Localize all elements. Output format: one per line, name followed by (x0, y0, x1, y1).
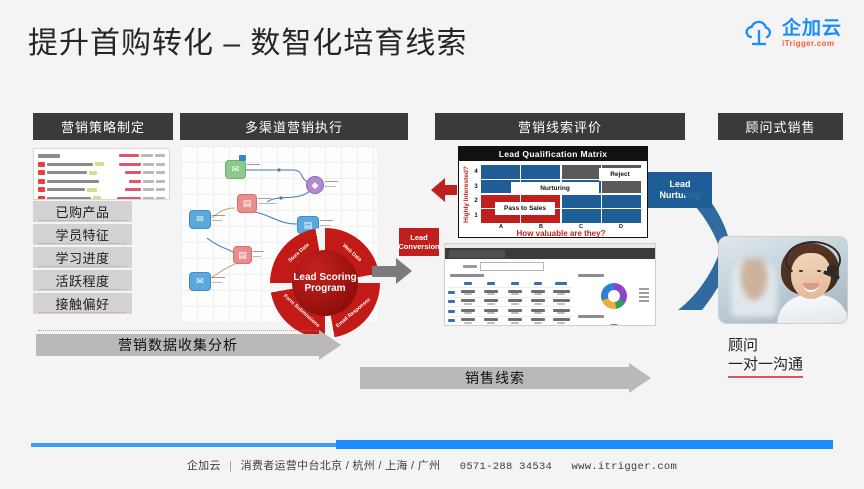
lead-conversion-badge: Lead Conversion (399, 228, 439, 256)
column-header-execution: 多渠道营销执行 (180, 113, 408, 140)
logo-name-cn: 企加云 (782, 19, 842, 38)
matrix-chip-pass-to-sales: Pass to Sales (495, 202, 555, 215)
band-label: 销售线索 (465, 368, 525, 388)
profile-tag-contact-preference[interactable]: 接触偏好 (33, 293, 132, 314)
profile-tag-student-traits[interactable]: 学员特征 (33, 224, 132, 245)
footer-phone: 0571-288 34534 (460, 461, 552, 473)
cloud-icon (742, 18, 776, 48)
dashboard-tab (449, 250, 505, 258)
matrix-title: Lead Qualification Matrix (459, 147, 647, 161)
adviser-line-1: 顾问 (728, 337, 803, 356)
profile-tag-activity-level[interactable]: 活跃程度 (33, 270, 132, 291)
band-data-collection: 营销数据收集分析 (36, 334, 342, 356)
flow-node-email-blue: ✉ (189, 210, 211, 229)
footer-divider: | (229, 460, 232, 472)
dashboard-filter-row (463, 262, 655, 271)
matrix-y-tick: 4 (474, 169, 477, 175)
flow-node-caption: ▁▁▁▁▁▁▁▁▁ (320, 217, 333, 227)
wheel-to-conversion-arrow (372, 258, 412, 284)
flow-node-caption: ▁▁▁▁▁▁▁▁▁▁▁▁ (258, 195, 276, 205)
lead-scoring-program-wheel: Store Data Web Data Email Responses Form… (270, 228, 380, 338)
lead-scoring-dashboard-thumbnail (444, 243, 656, 326)
slide-canvas: 提升首购转化 – 数智化培育线索 企加云 iTrigger.com 营销策略制定… (0, 0, 864, 489)
profile-tag-purchased-products[interactable]: 已购产品 (33, 201, 132, 222)
dashboard-navbar (445, 248, 655, 259)
brand-logo: 企加云 iTrigger.com (742, 18, 842, 48)
matrix-chip-reject: Reject (599, 168, 641, 181)
column-header-sales: 顾问式销售 (718, 113, 843, 140)
column-header-strategy: 营销策略制定 (33, 113, 173, 140)
flow-node-caption: ▁▁▁▁▁▁▁ (253, 248, 263, 258)
wheel-center-label: Lead Scoring Program (292, 272, 358, 295)
band-label: 营销数据收集分析 (118, 335, 238, 355)
footer-website[interactable]: www.itrigger.com (572, 461, 678, 473)
flow-node-decision-purple: ◆ (306, 176, 324, 194)
table-header-row (448, 279, 572, 288)
page-title: 提升首购转化 – 数智化培育线索 (28, 18, 467, 62)
call-center-agent-photo (718, 236, 848, 324)
flow-node-caption: ▁▁▁▁▁▁▁▁▁ (325, 178, 338, 188)
lead-qualification-matrix: Lead Qualification Matrix Highly Interes… (458, 146, 648, 238)
matrix-left-arrow (431, 178, 457, 202)
flow-node-caption: ▁▁▁▁▁▁▁▁▁ (212, 274, 225, 284)
profile-tag-learning-progress[interactable]: 学习进度 (33, 247, 132, 268)
footer-rule-light (31, 443, 336, 447)
logo-name-en: iTrigger.com (782, 40, 842, 48)
matrix-y-tick: 2 (474, 198, 477, 204)
matrix-cell-D1 (602, 209, 641, 223)
matrix-cell-D2 (602, 195, 641, 209)
adviser-caption: 顾问 一对一沟通 (728, 337, 803, 378)
matrix-cell-D3 (602, 180, 641, 194)
footer-rule-accent (336, 440, 833, 449)
flow-node-caption: ▁▁▁▁▁▁▁▁▁ (247, 161, 260, 171)
dashboard-donut-chart-2 (575, 321, 652, 326)
table-row (448, 298, 572, 307)
flow-node-condition-red: ▤ (237, 194, 257, 213)
matrix-x-axis-label: How valuable are they? (481, 229, 641, 238)
matrix-y-tick: 3 (474, 184, 477, 190)
matrix-cell-B4 (521, 165, 560, 179)
footer-text: 企加云 | 消费者运营中台北京 / 杭州 / 上海 / 广州 0571-288 … (0, 457, 864, 473)
matrix-cell-C2 (562, 195, 601, 209)
matrix-chip-nurturing: Nurturing (511, 182, 599, 195)
table-row (448, 288, 572, 297)
logo-wordmark: 企加云 iTrigger.com (782, 19, 842, 48)
flow-node-condition-red-2: ▤ (233, 246, 252, 264)
matrix-cell-C1 (562, 209, 601, 223)
matrix-y-ticks: 4 3 2 1 (472, 165, 480, 223)
flow-node-email-green: ✉ (225, 160, 246, 179)
table-row (448, 307, 572, 316)
adviser-line-2: 一对一沟通 (728, 356, 803, 378)
dashboard-donut-chart-1 (575, 280, 652, 312)
marketing-report-thumbnail (33, 148, 170, 200)
band-sales-leads: 销售线索 (360, 367, 652, 389)
column-header-scoring: 营销线索评价 (435, 113, 685, 140)
footer-brand: 企加云 (187, 460, 221, 472)
matrix-cell-C4 (562, 165, 601, 179)
flow-node-badge (239, 155, 246, 161)
table-row (448, 317, 572, 326)
matrix-y-tick: 1 (474, 213, 477, 219)
matrix-cell-A4 (481, 165, 520, 179)
flow-node-caption: ▁▁▁▁▁▁▁▁▁ (212, 212, 225, 222)
footer-org: 消费者运营中台北京 / 杭州 / 上海 / 广州 (241, 460, 441, 472)
matrix-y-axis-label: Highly Interested? (461, 165, 472, 223)
wheel-center: Lead Scoring Program (292, 250, 358, 316)
flow-node-email-blue-2: ✉ (189, 272, 211, 291)
dashboard-table (448, 273, 572, 326)
